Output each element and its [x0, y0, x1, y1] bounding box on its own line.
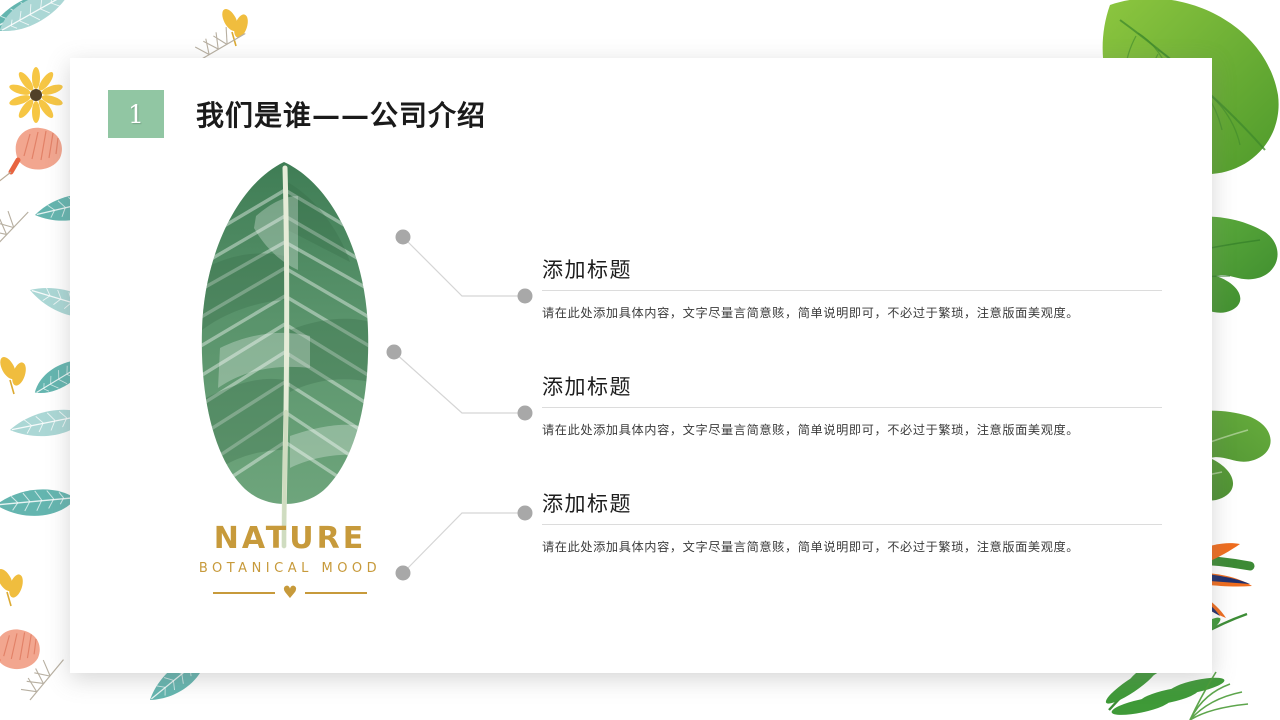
block-body: 请在此处添加具体内容，文字尽量言简意赅，简单说明即可，不必过于繁琐，注意版面美观…	[542, 421, 1162, 439]
block-title: 添加标题	[542, 488, 1162, 524]
block-divider	[542, 524, 1162, 525]
connector-dot	[396, 566, 411, 581]
connector-dot	[387, 345, 402, 360]
block-title: 添加标题	[542, 254, 1162, 290]
content-block: 添加标题 请在此处添加具体内容，文字尽量言简意赅，简单说明即可，不必过于繁琐，注…	[542, 254, 1162, 322]
block-divider	[542, 407, 1162, 408]
connector-lines	[70, 58, 1212, 673]
content-block: 添加标题 请在此处添加具体内容，文字尽量言简意赅，简单说明即可，不必过于繁琐，注…	[542, 371, 1162, 439]
block-body: 请在此处添加具体内容，文字尽量言简意赅，简单说明即可，不必过于繁琐，注意版面美观…	[542, 538, 1162, 556]
connector-dot	[518, 506, 533, 521]
block-title: 添加标题	[542, 371, 1162, 407]
block-body: 请在此处添加具体内容，文字尽量言简意赅，简单说明即可，不必过于繁琐，注意版面美观…	[542, 304, 1162, 322]
slide-card: 1 我们是谁——公司介绍	[70, 58, 1212, 673]
block-divider	[542, 290, 1162, 291]
connector-dot	[518, 289, 533, 304]
connector-dot	[518, 406, 533, 421]
connector-dot	[396, 230, 411, 245]
content-block: 添加标题 请在此处添加具体内容，文字尽量言简意赅，简单说明即可，不必过于繁琐，注…	[542, 488, 1162, 556]
